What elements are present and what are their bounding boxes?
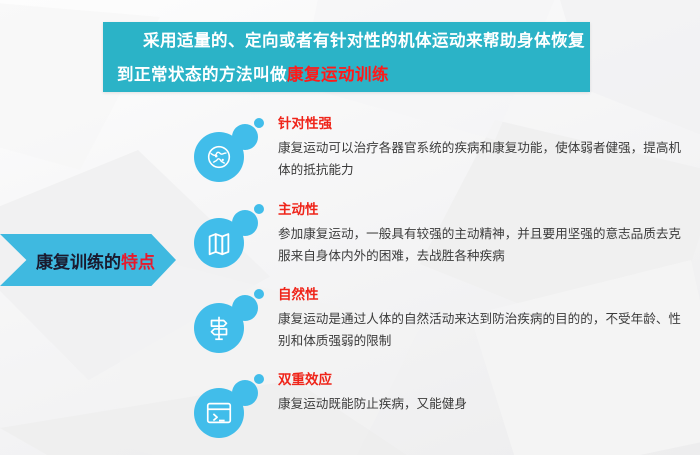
- icon-cluster: [192, 118, 268, 188]
- feature-title: 针对性强: [278, 114, 697, 134]
- icon-cluster: [192, 204, 268, 274]
- feature-text: 主动性 参加康复运动，一般具有较强的主动精神，并且要用坚强的意志品质去克服来自身…: [278, 196, 697, 267]
- decor-dot-small: [254, 374, 264, 384]
- feature-body: 参加康复运动，一般具有较强的主动精神，并且要用坚强的意志品质去克服来自身体内外的…: [278, 223, 690, 267]
- icon-cluster: [192, 289, 268, 359]
- header-line-2-prefix: 到正常状态的方法叫做: [117, 65, 287, 84]
- feature-item: 主动性 参加康复运动，一般具有较强的主动精神，并且要用坚强的意志品质去克服来自身…: [192, 196, 697, 267]
- feature-text: 双重效应 康复运动既能防止疾病，又能健身: [278, 366, 697, 415]
- feature-text: 针对性强 康复运动可以治疗各器官系统的疾病和康复功能，使体弱者健强，提高机体的抵…: [278, 110, 697, 181]
- header-highlight: 康复运动训练: [287, 65, 389, 84]
- section-label-banner: 康复训练的特点: [0, 234, 176, 286]
- section-label-text: 康复训练的特点: [0, 248, 155, 273]
- feature-title: 自然性: [278, 285, 697, 305]
- header-banner: 采用适量的、定向或者有针对性的机体运动来帮助身体恢复 到正常状态的方法叫做康复运…: [103, 22, 590, 92]
- signpost-icon: [194, 303, 244, 353]
- globe-icon: [194, 132, 244, 182]
- decor-dot-small: [254, 204, 264, 214]
- feature-item: 自然性 康复运动是通过人体的自然活动来达到防治疾病的目的的，不受年龄、性别和体质…: [192, 281, 697, 352]
- poster-canvas: 采用适量的、定向或者有针对性的机体运动来帮助身体恢复 到正常状态的方法叫做康复运…: [0, 0, 700, 455]
- icon-cluster: [192, 374, 268, 444]
- section-label-prefix: 康复训练的: [36, 253, 121, 273]
- feature-body: 康复运动可以治疗各器官系统的疾病和康复功能，使体弱者健强，提高机体的抵抗能力: [278, 137, 690, 181]
- header-line-2: 到正常状态的方法叫做康复运动训练: [103, 58, 590, 92]
- feature-item: 针对性强 康复运动可以治疗各器官系统的疾病和康复功能，使体弱者健强，提高机体的抵…: [192, 110, 697, 181]
- feature-item: 双重效应 康复运动既能防止疾病，又能健身: [192, 366, 697, 415]
- terminal-icon: [194, 388, 244, 438]
- feature-text: 自然性 康复运动是通过人体的自然活动来达到防治疾病的目的的，不受年龄、性别和体质…: [278, 281, 697, 352]
- feature-title: 双重效应: [278, 370, 697, 390]
- decor-dot-small: [254, 289, 264, 299]
- decor-dot-small: [254, 118, 264, 128]
- header-line-1: 采用适量的、定向或者有针对性的机体运动来帮助身体恢复: [103, 22, 590, 58]
- feature-title: 主动性: [278, 200, 697, 220]
- feature-body: 康复运动既能防止疾病，又能健身: [278, 393, 690, 415]
- section-label-highlight: 特点: [121, 253, 155, 273]
- map-icon: [194, 218, 244, 268]
- feature-body: 康复运动是通过人体的自然活动来达到防治疾病的目的的，不受年龄、性别和体质强弱的限…: [278, 308, 690, 352]
